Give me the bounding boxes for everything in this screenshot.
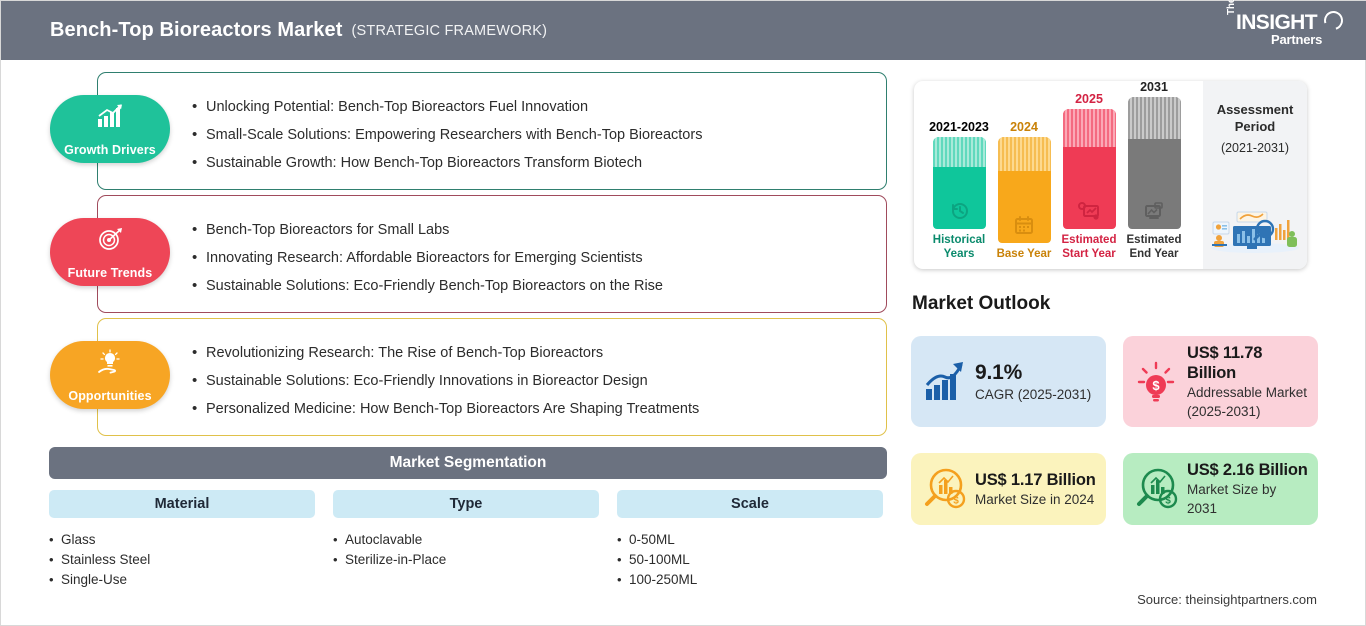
segmentation-column-scale: Scale 0-50ML 50-100ML 100-250ML bbox=[617, 490, 883, 590]
forecast-chart-icon bbox=[1078, 201, 1100, 221]
lightbulb-dollar-icon: $ bbox=[1133, 359, 1179, 405]
badge-label: Future Trends bbox=[68, 266, 153, 280]
market-segmentation-columns: Material Glass Stainless Steel Single-Us… bbox=[49, 490, 887, 590]
bar-stripe-top bbox=[1063, 109, 1116, 147]
bar-chart-growth-icon bbox=[96, 103, 124, 129]
pillar-panel-opportunities: Opportunities Revolutionizing Research: … bbox=[97, 318, 887, 436]
outlook-card-label: Market Size in 2024 bbox=[975, 490, 1096, 509]
timeline-bar-estimated-start-year: 2025 Estimated Start Year bbox=[1058, 92, 1120, 261]
bullet-list: Revolutionizing Research: The Rise of Be… bbox=[192, 339, 872, 423]
list-item: Revolutionizing Research: The Rise of Be… bbox=[192, 339, 872, 367]
list-item: Bench-Top Bioreactors for Small Labs bbox=[192, 216, 872, 244]
column-items: Autoclavable Sterilize-in-Place bbox=[333, 530, 599, 570]
outlook-card-text: US$ 1.17 Billion Market Size in 2024 bbox=[975, 470, 1096, 509]
logo-swoosh-icon bbox=[1321, 8, 1347, 34]
page-header: Bench-Top Bioreactors Market (STRATEGIC … bbox=[1, 1, 1366, 60]
list-item: Single-Use bbox=[49, 570, 315, 590]
page-title: Bench-Top Bioreactors Market bbox=[50, 19, 343, 42]
assessment-period-range: (2021-2031) bbox=[1221, 141, 1289, 155]
list-item: Personalized Medicine: How Bench-Top Bio… bbox=[192, 395, 872, 423]
list-item: Stainless Steel bbox=[49, 550, 315, 570]
assessment-timeline-card: 2021-2023 Historical Years 2024 bbox=[914, 81, 1307, 269]
history-clock-icon bbox=[948, 201, 970, 221]
list-item: Sterilize-in-Place bbox=[333, 550, 599, 570]
pillar-panel-future-trends: Future Trends Bench-Top Bioreactors for … bbox=[97, 195, 887, 313]
list-item: Sustainable Solutions: Eco-Friendly Benc… bbox=[192, 272, 872, 300]
magnifier-chart-dollar-icon: $ bbox=[921, 466, 967, 512]
badge-future-trends: Future Trends bbox=[50, 218, 170, 286]
list-item: Sustainable Growth: How Bench-Top Biorea… bbox=[192, 149, 872, 177]
bar-stripe-top bbox=[1128, 97, 1181, 139]
timeline-bar-base-year: 2024 Base Year bbox=[993, 120, 1055, 261]
list-item: Small-Scale Solutions: Empowering Resear… bbox=[192, 121, 872, 149]
list-item: 100-250ML bbox=[617, 570, 883, 590]
outlook-card-label: Market Size by 2031 bbox=[1187, 480, 1308, 518]
list-item: Unlocking Potential: Bench-Top Bioreacto… bbox=[192, 93, 872, 121]
calendar-icon bbox=[1013, 215, 1035, 235]
market-outlook-title: Market Outlook bbox=[912, 293, 1050, 315]
outlook-card-value: US$ 11.78 Billion bbox=[1187, 343, 1308, 383]
outlook-card-text: US$ 11.78 Billion Addressable Market (20… bbox=[1187, 343, 1308, 421]
source-attribution: Source: theinsightpartners.com bbox=[1137, 592, 1317, 607]
list-item: Innovating Research: Affordable Bioreact… bbox=[192, 244, 872, 272]
bar-body bbox=[1063, 109, 1116, 229]
badge-label: Opportunities bbox=[68, 389, 151, 403]
bar-year-label: 2031 bbox=[1140, 81, 1168, 94]
outlook-card-value: 9.1% bbox=[975, 360, 1096, 385]
bar-year-label: 2025 bbox=[1075, 92, 1103, 106]
market-segmentation-header: Market Segmentation bbox=[49, 447, 887, 479]
outlook-card-label: CAGR (2025-2031) bbox=[975, 385, 1096, 404]
timeline-bar-historical-years: 2021-2023 Historical Years bbox=[928, 120, 990, 261]
outlook-card-text: 9.1% CAGR (2025-2031) bbox=[975, 360, 1096, 404]
outlook-card-market-size-2031: $ US$ 2.16 Billion Market Size by 2031 bbox=[1123, 453, 1318, 525]
bar-body bbox=[998, 137, 1051, 243]
outlook-card-label: Addressable Market (2025-2031) bbox=[1187, 383, 1308, 421]
bar-caption: Estimated Start Year bbox=[1058, 233, 1120, 261]
list-item: 50-100ML bbox=[617, 550, 883, 570]
svg-text:$: $ bbox=[1165, 496, 1171, 507]
svg-text:$: $ bbox=[1152, 378, 1160, 393]
outlook-card-market-size-2024: $ US$ 1.17 Billion Market Size in 2024 bbox=[911, 453, 1106, 525]
logo-partners-text: Partners bbox=[1271, 32, 1322, 47]
assessment-period-title: Assessment Period bbox=[1203, 101, 1307, 135]
bar-year-label: 2021-2023 bbox=[929, 120, 989, 134]
badge-label: Growth Drivers bbox=[64, 143, 156, 157]
column-header: Type bbox=[333, 490, 599, 518]
bar-body bbox=[1128, 97, 1181, 229]
column-header: Scale bbox=[617, 490, 883, 518]
column-items: Glass Stainless Steel Single-Use bbox=[49, 530, 315, 590]
outlook-card-text: US$ 2.16 Billion Market Size by 2031 bbox=[1187, 460, 1308, 518]
list-item: Glass bbox=[49, 530, 315, 550]
segmentation-column-material: Material Glass Stainless Steel Single-Us… bbox=[49, 490, 315, 590]
lightbulb-in-hand-icon bbox=[96, 349, 124, 375]
presentation-icon bbox=[1143, 201, 1165, 221]
list-item: 0-50ML bbox=[617, 530, 883, 550]
bar-year-label: 2024 bbox=[1010, 120, 1038, 134]
bullet-list: Unlocking Potential: Bench-Top Bioreacto… bbox=[192, 93, 872, 177]
list-item: Autoclavable bbox=[333, 530, 599, 550]
infographic-page: Bench-Top Bioreactors Market (STRATEGIC … bbox=[0, 0, 1366, 626]
growth-arrow-bar-icon bbox=[921, 359, 967, 405]
magnifier-chart-dollar-icon: $ bbox=[1133, 466, 1179, 512]
bar-stripe-top bbox=[998, 137, 1051, 171]
outlook-card-cagr: 9.1% CAGR (2025-2031) bbox=[911, 336, 1106, 427]
analytics-dashboard-illustration bbox=[1209, 198, 1301, 259]
bar-stripe-top bbox=[933, 137, 986, 167]
pillar-panel-growth-drivers: Growth Drivers Unlocking Potential: Benc… bbox=[97, 72, 887, 190]
bar-caption: Estimated End Year bbox=[1123, 233, 1185, 261]
badge-opportunities: Opportunities bbox=[50, 341, 170, 409]
bar-caption: Historical Years bbox=[928, 233, 990, 261]
bar-body bbox=[933, 137, 986, 229]
target-dart-icon bbox=[96, 226, 124, 252]
badge-growth-drivers: Growth Drivers bbox=[50, 95, 170, 163]
insight-partners-logo: The INSIGHT Partners bbox=[1225, 9, 1345, 51]
outlook-card-value: US$ 1.17 Billion bbox=[975, 470, 1096, 490]
timeline-bar-estimated-end-year: 2031 Estimated End Year bbox=[1123, 81, 1185, 261]
column-header: Material bbox=[49, 490, 315, 518]
outlook-card-addressable-market: $ US$ 11.78 Billion Addressable Market (… bbox=[1123, 336, 1318, 427]
page-subtitle: (STRATEGIC FRAMEWORK) bbox=[352, 23, 548, 39]
svg-text:$: $ bbox=[953, 496, 959, 507]
list-item: Sustainable Solutions: Eco-Friendly Inno… bbox=[192, 367, 872, 395]
bullet-list: Bench-Top Bioreactors for Small Labs Inn… bbox=[192, 216, 872, 300]
outlook-card-value: US$ 2.16 Billion bbox=[1187, 460, 1308, 480]
column-items: 0-50ML 50-100ML 100-250ML bbox=[617, 530, 883, 590]
segmentation-column-type: Type Autoclavable Sterilize-in-Place bbox=[333, 490, 599, 590]
assessment-period-panel: Assessment Period (2021-2031) bbox=[1203, 81, 1307, 269]
timeline-bars: 2021-2023 Historical Years 2024 bbox=[924, 81, 1204, 269]
bar-caption: Base Year bbox=[997, 247, 1052, 261]
